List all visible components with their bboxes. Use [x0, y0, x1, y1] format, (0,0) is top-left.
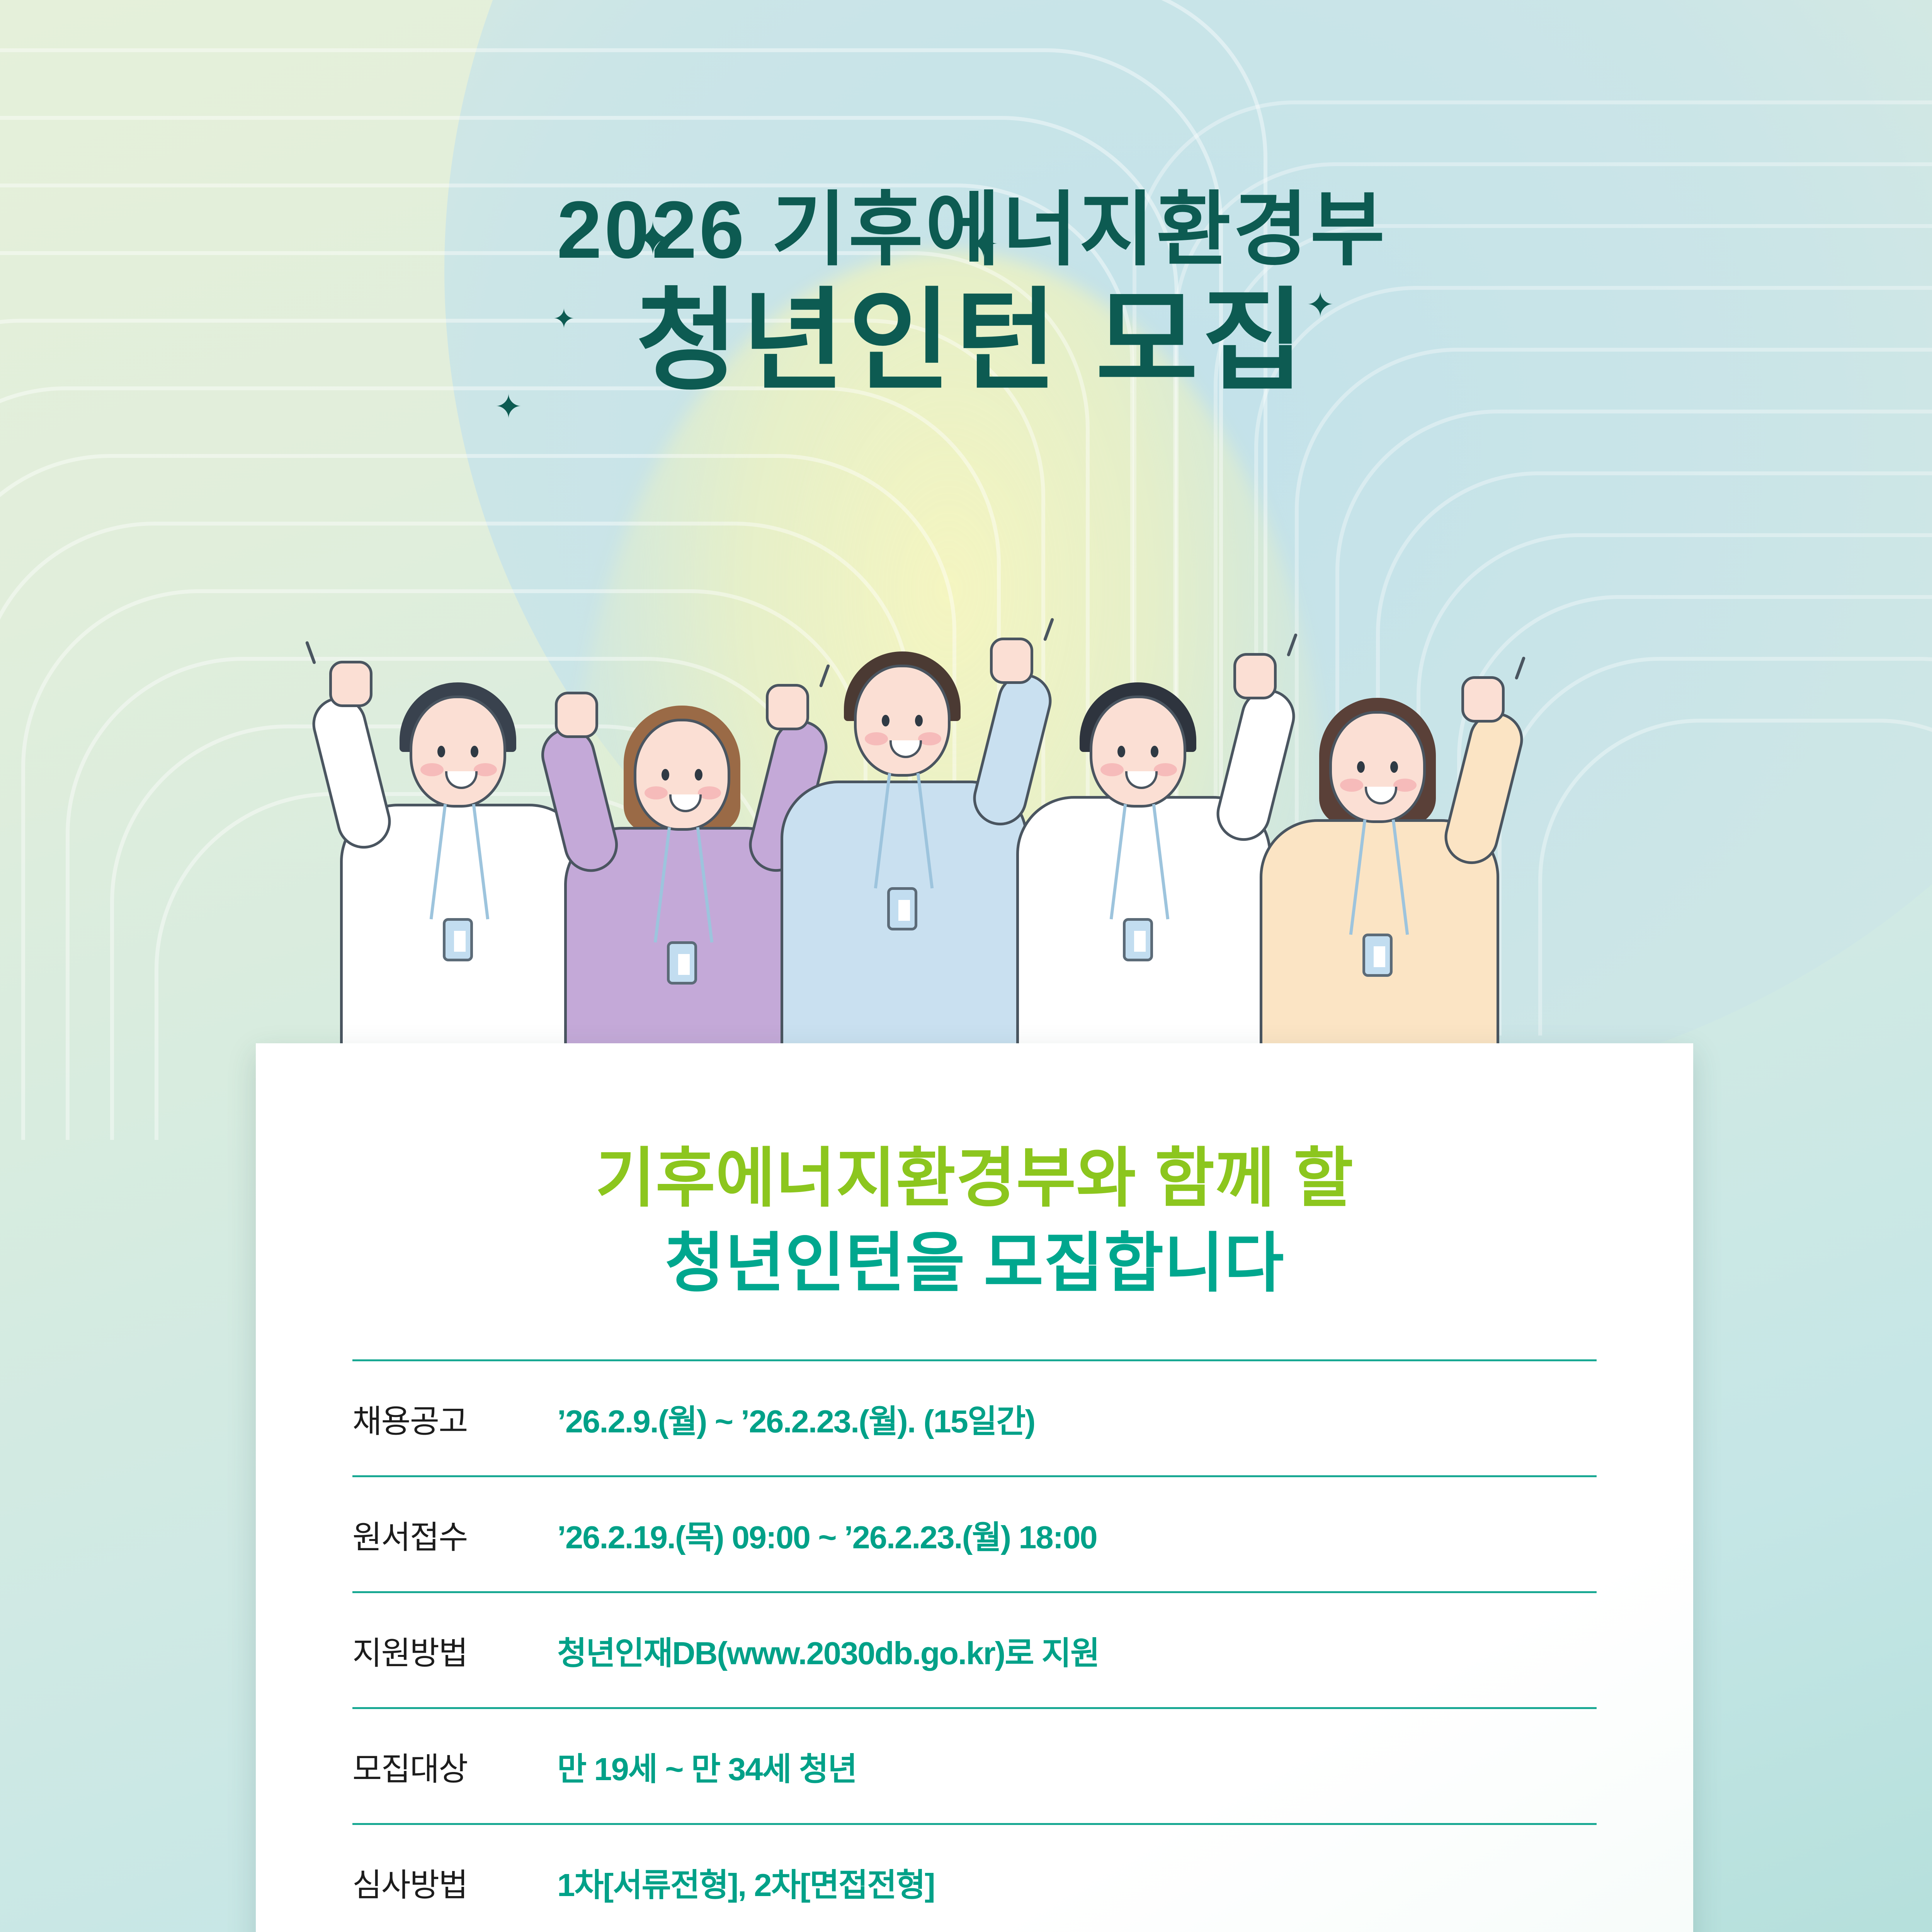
- person-cheek: [865, 732, 888, 745]
- table-row: 심사방법1차[서류전형], 2차[면접전형]: [352, 1823, 1597, 1932]
- row-value: ’26.2.9.(월) ~ ’26.2.23.(월). (15일간): [557, 1395, 1035, 1442]
- person-fist: [1233, 653, 1277, 699]
- emphasis-mark: [819, 664, 830, 688]
- person-cheek: [420, 763, 444, 776]
- row-value: 청년인재DB(www.2030db.go.kr)로 지원: [557, 1627, 1099, 1673]
- headline-line-1: 기후에너지환경부와 함께 할: [256, 1140, 1693, 1216]
- person-cheek: [1100, 763, 1124, 776]
- recruitment-info-table: 채용공고’26.2.9.(월) ~ ’26.2.23.(월). (15일간)원서…: [352, 1359, 1597, 1932]
- person-id-badge: [667, 941, 697, 985]
- person-eye: [695, 769, 702, 781]
- person-eye: [1151, 746, 1158, 757]
- person-head: [1090, 696, 1186, 808]
- person-head: [1329, 711, 1426, 823]
- table-row: 지원방법청년인재DB(www.2030db.go.kr)로 지원: [352, 1591, 1597, 1707]
- person-eye: [882, 715, 889, 726]
- person-eye: [662, 769, 669, 781]
- person-id-badge: [443, 918, 473, 961]
- row-value: 1차[서류전형], 2차[면접전형]: [557, 1859, 935, 1905]
- person-eye: [1357, 761, 1365, 773]
- person-fist: [1461, 676, 1505, 723]
- table-row: 원서접수’26.2.19.(목) 09:00 ~ ’26.2.23.(월) 18…: [352, 1475, 1597, 1591]
- person-fist: [555, 692, 598, 738]
- table-row: 채용공고’26.2.9.(월) ~ ’26.2.23.(월). (15일간): [352, 1359, 1597, 1475]
- row-label: 지원방법: [352, 1627, 557, 1673]
- emphasis-mark: [1515, 656, 1526, 680]
- table-row: 모집대상만 19세 ~ 만 34세 청년: [352, 1707, 1597, 1823]
- person-head: [410, 696, 506, 808]
- info-card: 기후에너지환경부와 함께 할 청년인턴을 모집합니다 채용공고’26.2.9.(…: [256, 1043, 1693, 1932]
- row-value: ’26.2.19.(목) 09:00 ~ ’26.2.23.(월) 18:00: [557, 1511, 1097, 1558]
- person-eye: [471, 746, 478, 757]
- person-head: [634, 719, 730, 831]
- row-label: 채용공고: [352, 1395, 557, 1442]
- title-line-2: 청년인턴 모집: [0, 279, 1932, 404]
- poster-canvas: 2026 기후에너지환경부 청년인턴 모집 ✦ ✦ ✦ ✦ ✦ 기후에너지환경부…: [0, 0, 1932, 1932]
- row-value: 만 19세 ~ 만 34세 청년: [557, 1743, 857, 1789]
- headline-line-2: 청년인턴을 모집합니다: [256, 1225, 1693, 1301]
- person-fist: [329, 661, 372, 707]
- row-label: 모집대상: [352, 1743, 557, 1789]
- person-cheek: [1340, 779, 1363, 792]
- emphasis-mark: [305, 641, 316, 665]
- card-headline: 기후에너지환경부와 함께 할 청년인턴을 모집합니다: [256, 1043, 1693, 1301]
- row-label: 원서접수: [352, 1511, 557, 1558]
- person-head: [854, 665, 951, 777]
- person-raised-arm: [307, 691, 397, 854]
- person-eye: [1390, 761, 1398, 773]
- person-eye: [1117, 746, 1125, 757]
- person-fist: [990, 638, 1033, 684]
- person-cheek: [645, 786, 668, 799]
- person-raised-arm: [1439, 707, 1529, 870]
- person-eye: [437, 746, 445, 757]
- illustration-cheering-interns: [294, 502, 1723, 1074]
- person-id-badge: [1362, 934, 1393, 977]
- emphasis-mark: [1043, 618, 1054, 641]
- person-id-badge: [887, 887, 917, 930]
- person-raised-arm: [1211, 684, 1301, 847]
- row-label: 심사방법: [352, 1859, 557, 1905]
- emphasis-mark: [1287, 633, 1298, 657]
- person-fist: [766, 684, 809, 730]
- person-eye: [915, 715, 923, 726]
- poster-title: 2026 기후에너지환경부 청년인턴 모집: [0, 189, 1932, 404]
- title-line-1: 2026 기후에너지환경부: [0, 189, 1932, 270]
- person-id-badge: [1123, 918, 1153, 961]
